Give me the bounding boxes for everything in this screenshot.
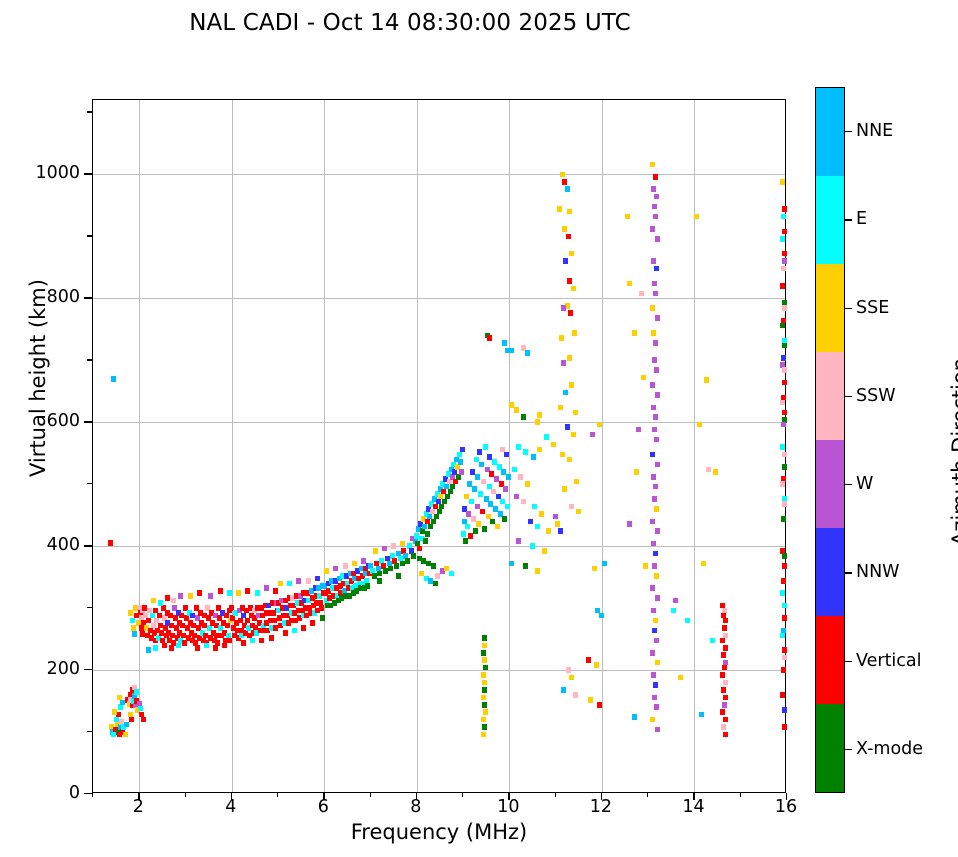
colorbar-segment-vertical: [816, 616, 844, 704]
echo-point: [567, 209, 572, 215]
echo-point: [461, 531, 466, 537]
echo-point: [557, 206, 562, 212]
echo-point: [782, 553, 787, 559]
echo-point: [694, 214, 699, 220]
echo-point: [431, 519, 436, 525]
echo-point: [481, 479, 486, 485]
echo-point: [539, 511, 544, 517]
page-title: NAL CADI - Oct 14 08:30:00 2025 UTC: [0, 10, 820, 36]
colorbar-segment-nne: [816, 88, 844, 176]
echo-point: [151, 598, 156, 604]
echo-point: [653, 291, 658, 297]
echo-point: [176, 643, 181, 649]
echo-point: [400, 541, 405, 547]
echo-point: [141, 717, 146, 723]
echo-point: [571, 432, 576, 438]
echo-point: [655, 727, 660, 733]
echo-point: [476, 521, 481, 527]
echo-point: [514, 407, 519, 413]
echo-point: [128, 610, 133, 616]
echo-point: [723, 717, 728, 723]
echo-point: [655, 660, 660, 666]
x-axis-tick-mark: [508, 793, 509, 800]
y-axis-tick-label: 400: [47, 535, 80, 555]
echo-point: [571, 286, 576, 292]
echo-point: [720, 672, 725, 678]
echo-point: [782, 229, 787, 235]
echo-point: [653, 484, 658, 490]
echo-point: [463, 538, 468, 544]
echo-point: [531, 454, 536, 460]
echo-point: [722, 625, 727, 631]
colorbar-segment-ssw: [816, 352, 844, 440]
echo-point: [131, 625, 136, 631]
echo-point: [782, 615, 787, 621]
echo-point: [396, 573, 401, 579]
echo-point: [482, 526, 487, 532]
echo-point: [720, 638, 725, 644]
x-axis-tick-label: 4: [225, 797, 236, 817]
echo-point: [653, 214, 658, 220]
echo-point: [255, 590, 260, 596]
echo-point: [218, 588, 223, 594]
echo-point: [372, 573, 377, 579]
x-axis-tick-label: 10: [497, 797, 519, 817]
echo-point: [287, 581, 292, 587]
echo-point: [428, 524, 433, 530]
echo-point: [465, 524, 470, 530]
echo-point: [535, 568, 540, 574]
echo-point: [469, 499, 474, 505]
echo-point: [710, 638, 715, 644]
echo-point: [781, 516, 786, 522]
echo-point: [112, 709, 117, 715]
echo-point: [479, 462, 484, 468]
echo-point: [721, 652, 726, 658]
echo-point: [487, 335, 492, 341]
echo-point: [651, 405, 656, 411]
colorbar-tick-mark: [845, 661, 852, 662]
colorbar-label-vertical: Vertical: [856, 651, 922, 671]
x-axis-tick-mark: [601, 793, 602, 800]
echo-point: [506, 474, 511, 480]
echo-point: [423, 538, 428, 544]
x-axis-minor-tick: [555, 793, 556, 797]
echo-point: [780, 692, 785, 698]
echo-point: [505, 504, 510, 510]
colorbar-tick-mark: [845, 308, 852, 309]
x-axis-minor-tick: [462, 793, 463, 797]
echo-point: [651, 186, 656, 192]
echo-point: [458, 459, 463, 465]
echo-point: [241, 640, 246, 646]
echo-point: [650, 519, 655, 525]
echo-point: [123, 732, 128, 738]
echo-point: [782, 410, 787, 416]
echo-point: [130, 618, 135, 624]
echo-point: [594, 662, 599, 668]
echo-point: [188, 593, 193, 599]
echo-point: [650, 585, 655, 591]
echo-point: [478, 491, 483, 497]
y-axis-tick-mark: [84, 297, 92, 298]
echo-point: [124, 722, 129, 728]
echo-point: [225, 623, 230, 629]
colorbar-label-nne: NNE: [856, 121, 893, 141]
echo-point: [269, 635, 274, 641]
colorbar-label-sse: SSE: [856, 298, 889, 318]
colorbar-segment-sse: [816, 264, 844, 352]
echo-point: [780, 633, 785, 639]
x-axis-tick-mark: [786, 793, 787, 800]
echo-point: [782, 343, 787, 349]
echo-point: [652, 204, 657, 210]
colorbar-segment-w: [816, 440, 844, 528]
echo-point: [236, 590, 241, 596]
echo-point: [434, 514, 439, 520]
echo-point: [333, 566, 338, 572]
echo-point: [586, 657, 591, 663]
echo-point: [780, 236, 785, 242]
echo-point: [470, 469, 475, 475]
echo-point: [588, 697, 593, 703]
echo-point: [134, 689, 139, 695]
echo-point: [654, 704, 659, 710]
echo-point: [525, 481, 530, 487]
echo-point: [132, 631, 137, 637]
colorbar-label-e: E: [856, 209, 867, 229]
x-axis-tick-label: 12: [590, 797, 612, 817]
echo-point: [118, 704, 123, 710]
echo-point: [652, 563, 657, 569]
echo-point: [553, 514, 558, 520]
echo-point: [650, 382, 655, 388]
echo-point: [685, 618, 690, 624]
echo-point: [653, 340, 658, 346]
echo-point: [652, 427, 657, 433]
echo-point: [222, 643, 227, 649]
echo-point: [319, 605, 324, 611]
echo-point: [521, 499, 526, 505]
echo-point: [651, 608, 656, 614]
echo-point: [165, 595, 170, 601]
colorbar-label-nnw: NNW: [856, 562, 900, 582]
echo-point: [780, 283, 785, 289]
echo-point: [561, 305, 566, 311]
echo-point: [678, 675, 683, 681]
echo-point: [599, 613, 604, 619]
colorbar-segment-nnw: [816, 528, 844, 616]
colorbar-tick-mark: [845, 219, 852, 220]
echo-point: [537, 412, 542, 418]
echo-point: [153, 645, 158, 651]
echo-point: [352, 561, 357, 567]
y-axis-minor-tick: [87, 359, 92, 360]
echo-point: [602, 561, 607, 567]
echo-point: [723, 732, 728, 738]
echo-point: [457, 452, 462, 458]
echo-point: [650, 305, 655, 311]
echo-point: [701, 561, 706, 567]
echo-point: [561, 687, 566, 693]
echo-point: [569, 675, 574, 681]
echo-point: [641, 375, 646, 381]
echo-point: [343, 563, 348, 569]
echo-point: [706, 467, 711, 473]
echo-point: [722, 702, 727, 708]
echo-point: [651, 672, 656, 678]
echo-point: [542, 548, 547, 554]
echo-point: [400, 561, 405, 567]
echo-point: [650, 650, 655, 656]
echo-point: [654, 506, 659, 512]
echo-point: [592, 566, 597, 572]
echo-point: [417, 546, 422, 552]
x-axis-label: Frequency (MHz): [92, 820, 786, 844]
y-axis-tick-mark: [84, 173, 92, 174]
echo-point: [650, 226, 655, 232]
echo-point: [213, 645, 218, 651]
echo-point: [781, 578, 786, 584]
echo-point: [509, 348, 514, 354]
colorbar-label-ssw: SSW: [856, 386, 896, 406]
colorbar-tick-mark: [845, 749, 852, 750]
echo-point: [655, 315, 660, 321]
y-axis-tick-label: 200: [47, 659, 80, 679]
echo-point: [456, 474, 461, 480]
echo-point: [781, 355, 786, 361]
echo-point: [721, 724, 726, 730]
x-axis-tick-label: 16: [775, 797, 797, 817]
echo-point: [178, 593, 183, 599]
echo-point: [782, 464, 787, 470]
echo-point: [182, 640, 187, 646]
echo-point: [273, 588, 278, 594]
echo-point: [245, 588, 250, 594]
echo-point: [521, 414, 526, 420]
echo-point: [652, 628, 657, 634]
echo-point: [532, 504, 537, 510]
echo-point: [475, 504, 480, 510]
y-axis-minor-tick: [87, 111, 92, 112]
echo-point: [782, 305, 787, 311]
echo-point: [108, 540, 113, 546]
echo-point: [560, 172, 565, 178]
echo-point: [481, 732, 486, 738]
echo-point: [627, 521, 632, 527]
x-axis-tick-mark: [323, 793, 324, 800]
echo-point: [782, 251, 787, 257]
echo-point: [720, 709, 725, 715]
echo-point: [782, 655, 787, 661]
x-axis-tick-mark: [693, 793, 694, 800]
echo-point: [495, 524, 500, 530]
x-axis-minor-tick: [647, 793, 648, 797]
echo-point: [435, 573, 440, 579]
echo-point: [574, 479, 579, 485]
echo-point: [565, 424, 570, 430]
ionogram-plot: [92, 99, 786, 793]
echo-point: [377, 578, 382, 584]
echo-point: [652, 357, 657, 363]
y-axis-tick-label: 800: [47, 287, 80, 307]
echo-point: [365, 583, 370, 589]
echo-point: [651, 330, 656, 336]
y-axis-tick-label: 1000: [35, 163, 80, 183]
echo-point: [425, 531, 430, 537]
y-axis-tick-mark: [84, 421, 92, 422]
echo-point: [780, 590, 785, 596]
echo-point: [487, 454, 492, 460]
echo-point: [654, 638, 659, 644]
echo-point: [652, 496, 657, 502]
x-axis-minor-tick: [370, 793, 371, 797]
echo-point: [471, 516, 476, 522]
echo-point: [782, 647, 787, 653]
echo-point: [555, 521, 560, 527]
colorbar-segment-e: [816, 176, 844, 264]
echo-point: [559, 335, 564, 341]
y-axis-minor-tick: [87, 235, 92, 236]
echo-point: [535, 419, 540, 425]
echo-point: [259, 638, 264, 644]
echo-point: [482, 680, 487, 686]
echo-point: [273, 625, 278, 631]
echo-point: [204, 643, 209, 649]
echo-point: [782, 563, 787, 569]
echo-point: [569, 251, 574, 257]
echo-point: [699, 712, 704, 718]
echo-point: [324, 568, 329, 574]
echo-point: [473, 528, 478, 534]
echo-point: [502, 516, 507, 522]
echo-point: [114, 717, 119, 723]
echo-point: [483, 665, 488, 671]
echo-point: [566, 234, 571, 240]
x-axis-tick-mark: [231, 793, 232, 800]
echo-point: [561, 360, 566, 366]
echo-point: [431, 563, 436, 569]
echo-point: [537, 447, 542, 453]
echo-point: [453, 479, 458, 485]
echo-point: [562, 179, 567, 185]
echo-point: [546, 528, 551, 534]
echo-point: [448, 489, 453, 495]
echo-point: [450, 484, 455, 490]
echo-point: [483, 709, 488, 715]
echo-point: [482, 635, 487, 641]
echo-point: [523, 563, 528, 569]
echo-point: [482, 702, 487, 708]
echo-point: [169, 645, 174, 651]
echo-point: [653, 551, 658, 557]
echo-point: [653, 682, 658, 688]
echo-point: [482, 687, 487, 693]
echo-point: [472, 486, 477, 492]
echo-point: [655, 595, 660, 601]
x-axis-tick-label: 6: [318, 797, 329, 817]
echo-point: [373, 548, 378, 554]
x-axis-minor-tick: [277, 793, 278, 797]
echo-point: [568, 310, 573, 316]
echo-point: [567, 278, 572, 284]
scatter-points-layer: [93, 100, 785, 792]
echo-point: [272, 618, 277, 624]
echo-point: [535, 524, 540, 530]
colorbar-tick-mark: [845, 572, 852, 573]
echo-point: [651, 541, 656, 547]
colorbar-gradient: [815, 87, 845, 793]
echo-point: [483, 444, 488, 450]
colorbar-segment-x-mode: [816, 704, 844, 792]
x-axis-minor-tick: [185, 793, 186, 797]
echo-point: [445, 494, 450, 500]
echo-point: [576, 509, 581, 515]
echo-point: [171, 598, 176, 604]
echo-point: [573, 410, 578, 416]
echo-point: [780, 179, 785, 185]
echo-point: [632, 714, 637, 720]
echo-point: [480, 509, 485, 515]
echo-point: [723, 695, 728, 701]
y-axis-tick-mark: [84, 669, 92, 670]
echo-point: [301, 625, 306, 631]
echo-point: [569, 504, 574, 510]
y-axis-tick-label: 600: [47, 411, 80, 431]
echo-point: [782, 380, 787, 386]
echo-point: [481, 695, 486, 701]
echo-point: [655, 528, 660, 534]
echo-point: [654, 573, 659, 579]
echo-point: [634, 469, 639, 475]
echo-point: [782, 452, 787, 458]
echo-point: [481, 717, 486, 723]
x-axis-tick-label: 14: [682, 797, 704, 817]
echo-point: [780, 323, 785, 329]
y-axis-minor-tick: [87, 731, 92, 732]
x-axis-minor-tick: [740, 793, 741, 797]
echo-point: [306, 578, 311, 584]
echo-point: [650, 717, 655, 723]
echo-point: [721, 687, 726, 693]
echo-point: [111, 376, 116, 382]
echo-point: [655, 392, 660, 398]
echo-point: [782, 707, 787, 713]
echo-point: [525, 350, 530, 356]
echo-point: [195, 645, 200, 651]
echo-point: [449, 571, 454, 577]
echo-point: [654, 194, 659, 200]
echo-point: [439, 504, 444, 510]
echo-point: [420, 528, 425, 534]
echo-point: [673, 598, 678, 604]
echo-point: [782, 501, 787, 507]
echo-point: [651, 474, 656, 480]
y-axis-minor-tick: [87, 483, 92, 484]
echo-point: [504, 452, 509, 458]
x-axis-tick-label: 2: [133, 797, 144, 817]
x-axis-tick-mark: [416, 793, 417, 800]
echo-point: [388, 566, 393, 572]
echo-point: [551, 442, 556, 448]
echo-point: [383, 568, 388, 574]
echo-point: [654, 266, 659, 272]
echo-point: [563, 390, 568, 396]
echo-point: [723, 680, 728, 686]
x-axis-tick-label: 8: [410, 797, 421, 817]
echo-point: [474, 457, 479, 463]
echo-point: [639, 291, 644, 297]
